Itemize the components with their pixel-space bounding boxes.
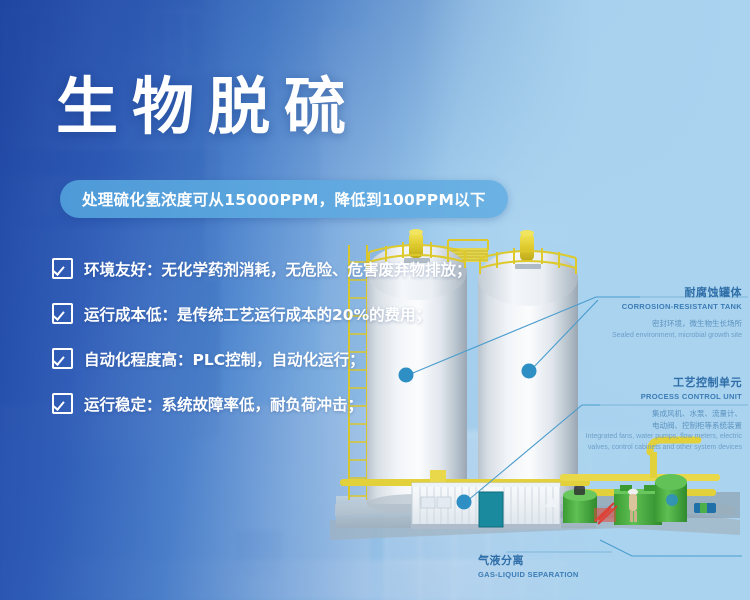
feature-list: 环境友好：无化学药剂消耗，无危险、危害废弃物排放； 运行成本低：是传统工艺运行成… (52, 258, 472, 438)
subtitle-text: 处理硫化氢浓度可从15000PPM，降低到100PPM以下 (82, 188, 486, 210)
annotation-title-cn: 工艺控制单元 (516, 374, 742, 390)
promo-banner: 生物脱硫 处理硫化氢浓度可从15000PPM，降低到100PPM以下 环境友好：… (0, 0, 750, 600)
annotation-desc-cn: 密封环境，微生物生长场所 (526, 318, 742, 330)
annotation-title-en: CORROSION-RESISTANT TANK (526, 302, 742, 311)
list-item: 运行稳定：系统故障率低，耐负荷冲击； (52, 393, 472, 414)
checkbox-checked-icon (52, 393, 73, 414)
process-control-container (412, 483, 560, 529)
checkbox-checked-icon (52, 303, 73, 324)
page-title: 生物脱硫 (56, 76, 360, 138)
callout-dot-container[interactable] (457, 495, 472, 510)
annotation-title-en: GAS-LIQUID SEPARATION (478, 570, 618, 579)
annotation-desc-en: Sealed environment, microbial growth sit… (526, 331, 742, 342)
checkbox-checked-icon (52, 348, 73, 369)
list-item: 环境友好：无化学药剂消耗，无危险、危害废弃物排放； (52, 258, 472, 279)
list-item: 运行成本低：是传统工艺运行成本的20%的费用； (52, 303, 472, 324)
annotation-desc-en: Integrated fans, water pumps, flow meter… (516, 432, 742, 453)
list-item: 自动化程度高：PLC控制，自动化运行； (52, 348, 472, 369)
subtitle-pill: 处理硫化氢浓度可从15000PPM，降低到100PPM以下 (60, 180, 508, 218)
annotation-title-en: PROCESS CONTROL UNIT (516, 392, 742, 401)
checkbox-checked-icon (52, 258, 73, 279)
annotation-title-cn: 气液分离 (478, 552, 618, 568)
annotation-corrosion-resistant-tank: 耐腐蚀罐体 CORROSION-RESISTANT TANK 密封环境，微生物生… (526, 284, 742, 341)
list-item-label: 自动化程度高：PLC控制，自动化运行； (84, 348, 365, 370)
list-item-label: 运行稳定：系统故障率低，耐负荷冲击； (84, 393, 363, 415)
annotation-title-cn: 耐腐蚀罐体 (526, 284, 742, 300)
annotation-process-control-unit: 工艺控制单元 PROCESS CONTROL UNIT 集成风机、水泵、流量计、… (516, 374, 742, 453)
list-item-label: 环境友好：无化学药剂消耗，无危险、危害废弃物排放； (84, 258, 472, 280)
annotation-gas-liquid-separation: 气液分离 GAS-LIQUID SEPARATION (478, 552, 618, 579)
list-item-label: 运行成本低：是传统工艺运行成本的20%的费用； (84, 303, 431, 325)
annotation-desc-cn: 集成风机、水泵、流量计、 电动阀、控制柜等系统装置 (516, 408, 742, 431)
